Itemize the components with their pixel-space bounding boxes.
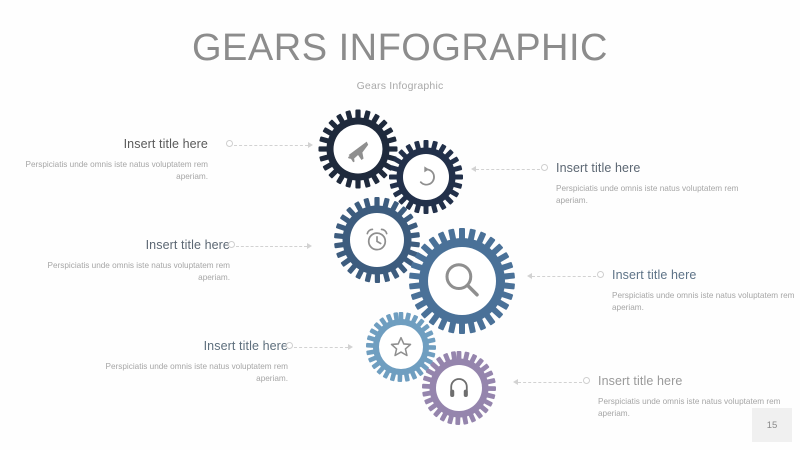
gear-magnifier bbox=[409, 228, 515, 334]
info-title: Insert title here bbox=[556, 160, 756, 176]
gear-teeth-ring bbox=[334, 197, 420, 283]
connector-right-2 bbox=[527, 271, 605, 282]
info-block-left-1[interactable]: Insert title here Perspiciatis unde omni… bbox=[8, 136, 208, 184]
connector-line bbox=[476, 169, 540, 170]
info-title: Insert title here bbox=[30, 237, 230, 253]
connector-line bbox=[234, 145, 308, 146]
refresh-icon bbox=[420, 166, 434, 184]
connector-left-1 bbox=[226, 140, 314, 151]
info-body: Perspiciatis unde omnis iste natus volup… bbox=[8, 159, 208, 184]
gear-teeth-ring bbox=[389, 140, 463, 214]
arrow-right-icon bbox=[307, 243, 312, 249]
gear-star bbox=[366, 312, 436, 382]
connector-dot bbox=[583, 377, 590, 384]
gear-teeth-ring bbox=[319, 110, 398, 189]
gear-teeth-ring bbox=[409, 228, 515, 334]
connector-line bbox=[294, 347, 348, 348]
info-block-left-2[interactable]: Insert title here Perspiciatis unde omni… bbox=[30, 237, 230, 285]
star-icon bbox=[391, 338, 410, 356]
info-title: Insert title here bbox=[612, 267, 800, 283]
gear-airplane bbox=[319, 110, 398, 189]
slide-canvas: GEARS INFOGRAPHIC Gears Infographic bbox=[0, 0, 800, 450]
gear-teeth-ring bbox=[422, 351, 496, 425]
info-block-right-1[interactable]: Insert title here Perspiciatis unde omni… bbox=[556, 160, 756, 208]
connector-line bbox=[236, 246, 307, 247]
slide-header: GEARS INFOGRAPHIC Gears Infographic bbox=[0, 26, 800, 92]
gear-refresh bbox=[389, 140, 463, 214]
airplane-icon bbox=[345, 142, 372, 165]
info-body: Perspiciatis unde omnis iste natus volup… bbox=[30, 260, 230, 285]
info-block-right-2[interactable]: Insert title here Perspiciatis unde omni… bbox=[612, 267, 800, 315]
connector-left-2 bbox=[228, 241, 313, 252]
info-body: Perspiciatis unde omnis iste natus volup… bbox=[556, 183, 756, 208]
headphones-icon bbox=[450, 379, 468, 397]
info-title: Insert title here bbox=[8, 136, 208, 152]
magnifier-icon bbox=[447, 265, 477, 295]
info-title: Insert title here bbox=[598, 373, 798, 389]
gear-alarm-clock bbox=[334, 197, 420, 283]
gear-headphones bbox=[422, 351, 496, 425]
page-number-badge: 15 bbox=[752, 408, 792, 442]
connector-dot bbox=[286, 342, 293, 349]
connector-left-3 bbox=[286, 342, 354, 353]
connector-dot bbox=[226, 140, 233, 147]
alarm-clock-icon bbox=[367, 229, 386, 249]
info-body: Perspiciatis unde omnis iste natus volup… bbox=[88, 361, 288, 386]
connector-dot bbox=[228, 241, 235, 248]
arrow-right-icon bbox=[348, 344, 353, 350]
connector-line bbox=[532, 276, 596, 277]
connector-right-1 bbox=[471, 164, 549, 175]
page-title: GEARS INFOGRAPHIC bbox=[0, 26, 800, 70]
connector-line bbox=[518, 382, 582, 383]
connector-right-3 bbox=[513, 377, 591, 388]
arrow-right-icon bbox=[308, 142, 313, 148]
gear-teeth-ring bbox=[366, 312, 436, 382]
info-body: Perspiciatis unde omnis iste natus volup… bbox=[612, 290, 800, 315]
connector-dot bbox=[541, 164, 548, 171]
page-subtitle: Gears Infographic bbox=[0, 80, 800, 92]
info-title: Insert title here bbox=[88, 338, 288, 354]
connector-dot bbox=[597, 271, 604, 278]
info-block-left-3[interactable]: Insert title here Perspiciatis unde omni… bbox=[88, 338, 288, 386]
